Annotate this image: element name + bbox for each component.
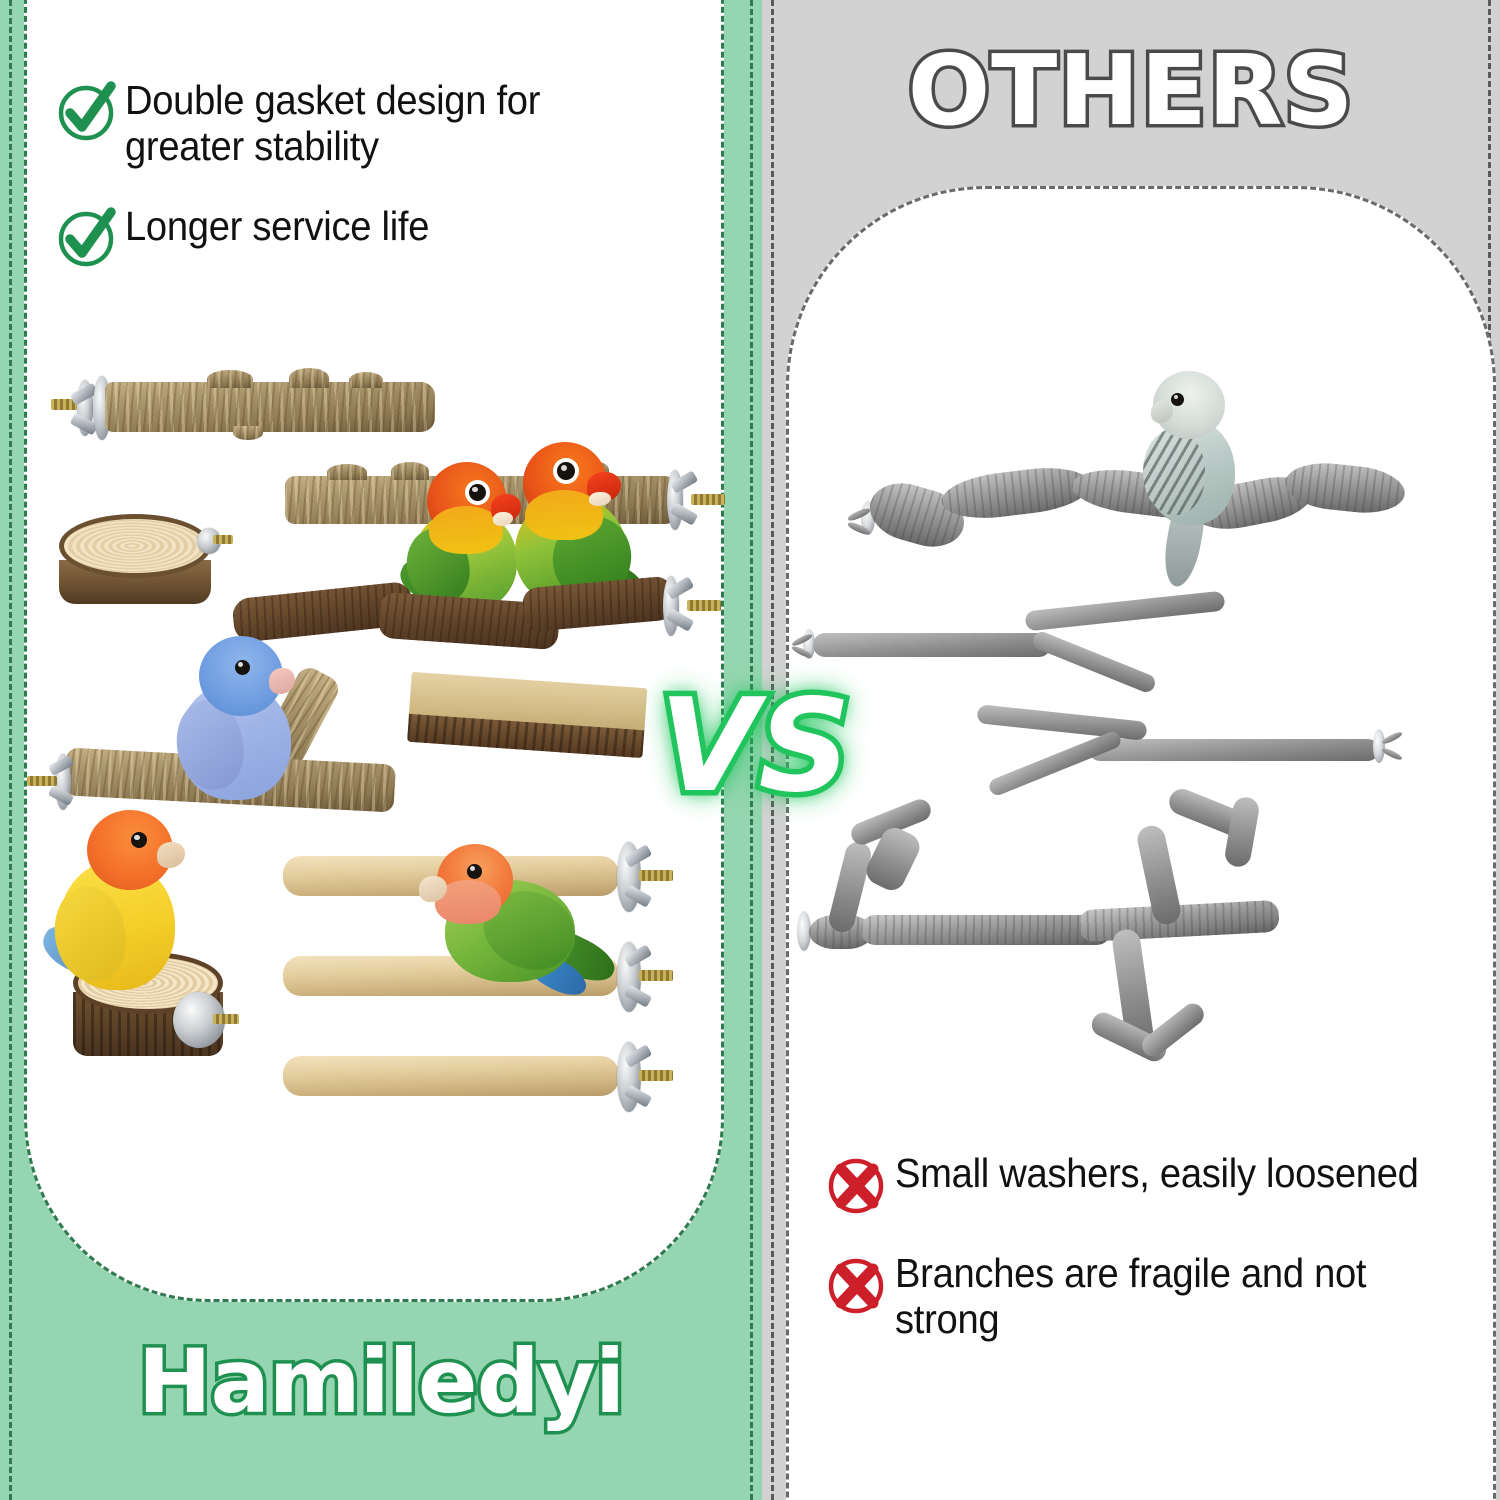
gray-forked-branch-upper-armB bbox=[987, 729, 1123, 797]
natural-bark-perch-long bbox=[105, 382, 435, 432]
dowel-perch-bottom bbox=[283, 1056, 619, 1096]
slice-platform-bolt bbox=[213, 535, 233, 544]
gray-forked-branch-upper-armA bbox=[976, 704, 1147, 741]
cross-circle-icon bbox=[825, 1253, 887, 1315]
check-circle-icon bbox=[55, 80, 117, 142]
perch3-bolt bbox=[687, 600, 721, 611]
budgerigar-gray bbox=[1127, 367, 1257, 547]
dowel-top-bolt bbox=[639, 870, 673, 881]
perch1-knot-b bbox=[289, 368, 329, 388]
gray-forked-branch-thin-trunk bbox=[813, 633, 1051, 657]
dowel-bot-bolt bbox=[639, 1070, 673, 1081]
wood-slice-platform-round bbox=[59, 514, 211, 606]
cons-list-item: Small washers, easily loosened bbox=[825, 1151, 1473, 1215]
parrotlet-blue bbox=[173, 634, 313, 799]
cons-list: Small washers, easily loosened Branches … bbox=[825, 1151, 1473, 1369]
left-product-card: Double gasket design for greater stabili… bbox=[24, 0, 724, 1302]
gray-multi-fork-branch-trunk bbox=[861, 915, 1111, 945]
pros-list-item: Double gasket design for greater stabili… bbox=[55, 78, 695, 170]
check-circle-icon bbox=[55, 206, 117, 268]
lovebird-green bbox=[423, 840, 613, 1020]
vs-badge: VS bbox=[640, 672, 870, 821]
others-heading: OTHERS bbox=[762, 34, 1500, 147]
perch1-knot-d bbox=[233, 426, 263, 440]
right-product-card: Small washers, easily loosened Branches … bbox=[786, 186, 1496, 1500]
gray-forked-branch-thin-lower bbox=[1030, 629, 1157, 694]
gray-forked-branch-thin-upper bbox=[1025, 591, 1226, 632]
dowel-mid-bolt bbox=[639, 970, 673, 981]
comparison-infographic: Double gasket design for greater stabili… bbox=[0, 0, 1500, 1500]
gray-knotty-branch-perch-b bbox=[939, 462, 1093, 524]
gray-forked-branch-upper-trunk bbox=[1089, 739, 1379, 761]
branch3-screw-a bbox=[1381, 730, 1403, 745]
pros-list-item: Longer service life bbox=[55, 204, 695, 268]
cons-list-item-label: Small washers, easily loosened bbox=[895, 1151, 1419, 1197]
pros-list: Double gasket design for greater stabili… bbox=[55, 78, 695, 294]
perch2-bolt bbox=[691, 494, 725, 505]
brand-logo-text: Hamiledyi bbox=[0, 1330, 762, 1433]
cons-list-item-label: Branches are fragile and not strong bbox=[895, 1251, 1433, 1343]
cons-list-item: Branches are fragile and not strong bbox=[825, 1251, 1473, 1343]
forked-perch-bolt bbox=[27, 776, 57, 786]
branch3-small-washer bbox=[1373, 729, 1385, 763]
lovebird-yellow bbox=[45, 806, 213, 1006]
slice-stand-bolt bbox=[213, 1014, 239, 1024]
cross-circle-icon bbox=[825, 1153, 887, 1215]
pros-list-item-label: Double gasket design for greater stabili… bbox=[125, 78, 655, 170]
perch1-knot-a bbox=[207, 370, 253, 388]
perch1-knot-c bbox=[349, 372, 383, 388]
perch2-knot-a bbox=[327, 464, 367, 480]
flat-wood-plank-platform bbox=[407, 672, 648, 762]
pros-list-item-label: Longer service life bbox=[125, 204, 429, 250]
